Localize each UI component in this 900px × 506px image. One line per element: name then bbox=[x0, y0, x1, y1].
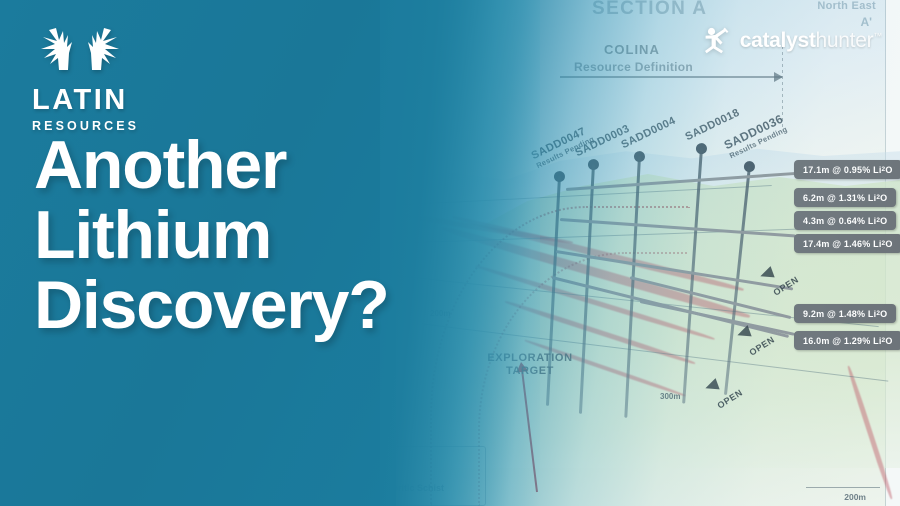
trademark-symbol: ™ bbox=[873, 31, 882, 41]
headline-line-1: Another bbox=[34, 130, 554, 200]
latin-resources-logo[interactable]: LATIN RESOURCES bbox=[32, 24, 152, 133]
wordmark-hunter: hunter bbox=[816, 29, 874, 52]
headline-line-3: Discovery? bbox=[34, 270, 554, 340]
wordmark-catalyst: catalyst bbox=[740, 29, 816, 52]
logo-wordmark-latin: LATIN bbox=[32, 86, 152, 115]
catalyst-hunter-logo[interactable]: catalysthunter™ bbox=[703, 26, 882, 54]
latin-resources-wings-icon bbox=[32, 24, 128, 80]
headline: Another Lithium Discovery? bbox=[34, 130, 554, 340]
headline-line-2: Lithium bbox=[34, 200, 554, 270]
catalyst-hunter-archer-icon bbox=[703, 26, 733, 54]
catalyst-hunter-wordmark: catalysthunter™ bbox=[740, 30, 882, 51]
youtube-thumbnail-canvas: EXPLORATION TARGET SECTION A North East … bbox=[0, 0, 900, 506]
